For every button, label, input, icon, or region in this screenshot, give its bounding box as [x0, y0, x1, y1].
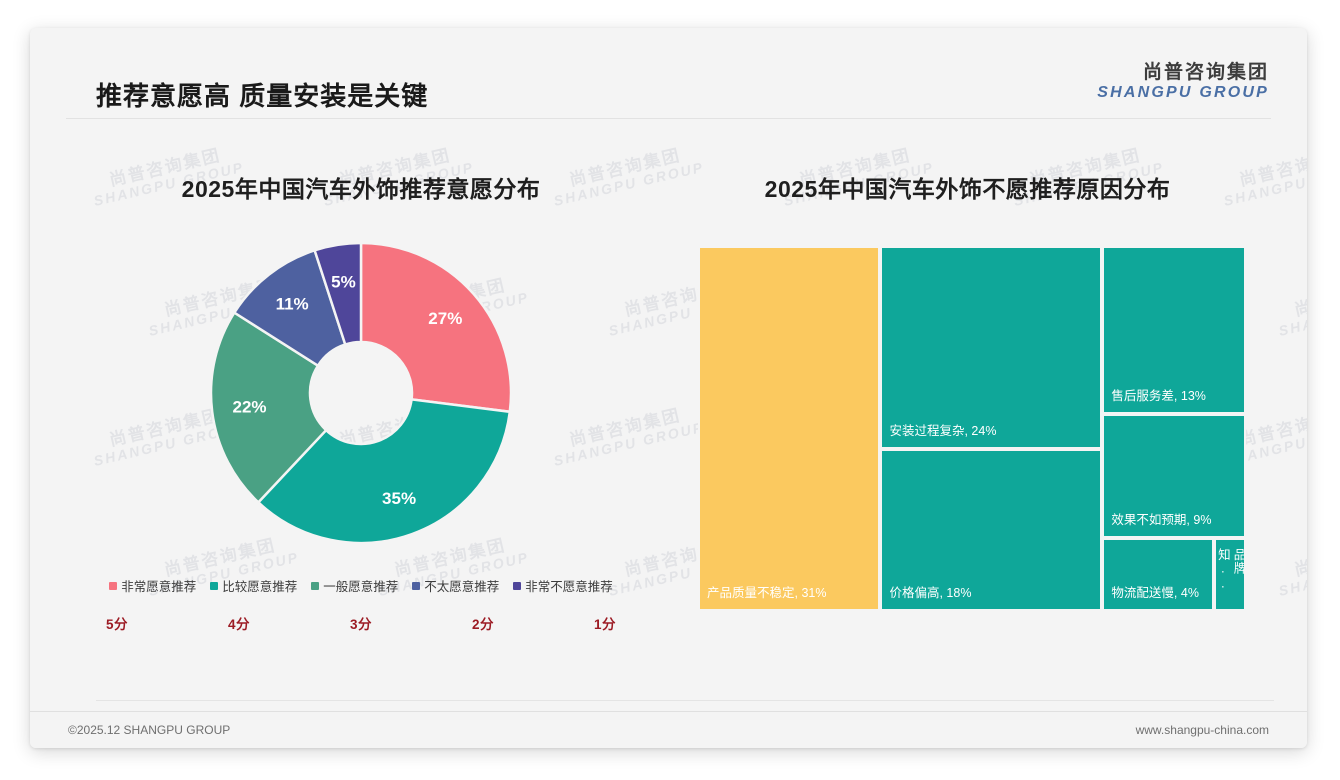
- legend-swatch-icon: [109, 582, 117, 590]
- slide-footer: ©2025.12 SHANGPU GROUP www.shangpu-china…: [30, 711, 1307, 748]
- legend-item[interactable]: 非常不愿意推荐: [513, 576, 613, 595]
- donut-slice-label: 22%: [232, 398, 266, 417]
- treemap-tile[interactable]: 品牌知..: [1214, 538, 1246, 611]
- donut-slice-label: 5%: [331, 273, 356, 292]
- treemap-tile[interactable]: 价格偏高, 18%: [880, 449, 1102, 611]
- brand-logo: 尚普咨询集团 SHANGPU GROUP: [1097, 62, 1269, 103]
- treemap-tile[interactable]: 效果不如预期, 9%: [1102, 414, 1246, 538]
- slide-card: 尚普咨询集团SHANGPU GROUP尚普咨询集团SHANGPU GROUP尚普…: [30, 28, 1307, 748]
- header-divider: [66, 118, 1271, 119]
- treemap-tile-label: 价格偏高, 18%: [882, 586, 978, 609]
- treemap-chart-title: 2025年中国汽车外饰不愿推荐原因分布: [660, 170, 1275, 204]
- treemap-tile[interactable]: 售后服务差, 13%: [1102, 246, 1246, 414]
- footer-website: www.shangpu-china.com: [1136, 723, 1269, 737]
- donut-slice-label: 27%: [428, 309, 462, 328]
- treemap-tile-label: 物流配送慢, 4%: [1104, 586, 1206, 609]
- legend-item[interactable]: 比较愿意推荐: [210, 576, 297, 595]
- treemap-tile-label: 安装过程复杂, 24%: [882, 424, 1003, 447]
- legend-swatch-icon: [311, 582, 319, 590]
- brand-logo-en: SHANGPU GROUP: [1097, 84, 1269, 103]
- treemap-tile-label: 品牌知..: [1214, 540, 1245, 609]
- legend-swatch-icon: [513, 582, 521, 590]
- treemap-tile[interactable]: 物流配送慢, 4%: [1102, 538, 1213, 611]
- treemap-tile-label: 效果不如预期, 9%: [1104, 513, 1218, 536]
- score-label: 4分: [228, 613, 250, 633]
- treemap-tile-label: 售后服务差, 13%: [1104, 389, 1212, 412]
- page-title: 推荐意愿高 质量安装是关键: [96, 76, 428, 113]
- footer-copyright: ©2025.12 SHANGPU GROUP: [68, 723, 230, 737]
- treemap-tile[interactable]: 产品质量不稳定, 31%: [698, 246, 880, 611]
- treemap-chart: 产品质量不稳定, 31%安装过程复杂, 24%价格偏高, 18%售后服务差, 1…: [698, 246, 1246, 611]
- donut-chart-title: 2025年中国汽车外饰推荐意愿分布: [66, 170, 656, 204]
- donut-slice-label: 35%: [382, 489, 416, 508]
- legend-item[interactable]: 不太愿意推荐: [412, 576, 499, 595]
- score-label: 1分: [594, 613, 616, 633]
- legend-label: 一般愿意推荐: [323, 576, 398, 595]
- panels-container: 2025年中国汽车外饰推荐意愿分布 27%35%22%11%5% 非常愿意推荐比…: [30, 118, 1307, 678]
- legend-label: 非常不愿意推荐: [525, 576, 613, 595]
- score-scale-row: 5分4分3分2分1分: [88, 613, 634, 633]
- donut-slice-label: 11%: [276, 295, 309, 314]
- legend-swatch-icon: [412, 582, 420, 590]
- legend-label: 非常愿意推荐: [121, 576, 196, 595]
- treemap-chart-panel: 2025年中国汽车外饰不愿推荐原因分布 产品质量不稳定, 31%安装过程复杂, …: [660, 118, 1275, 678]
- footnote-divider: [96, 700, 1274, 701]
- donut-legend: 非常愿意推荐比较愿意推荐一般愿意推荐不太愿意推荐非常不愿意推荐: [66, 576, 656, 595]
- slide-header: 推荐意愿高 质量安装是关键 尚普咨询集团 SHANGPU GROUP: [30, 28, 1307, 118]
- score-label: 3分: [350, 613, 372, 633]
- score-label: 5分: [106, 613, 128, 633]
- donut-chart-panel: 2025年中国汽车外饰推荐意愿分布 27%35%22%11%5% 非常愿意推荐比…: [66, 118, 656, 678]
- donut-chart-svg: 27%35%22%11%5%: [196, 228, 526, 558]
- score-label: 2分: [472, 613, 494, 633]
- legend-swatch-icon: [210, 582, 218, 590]
- legend-label: 比较愿意推荐: [222, 576, 297, 595]
- legend-item[interactable]: 非常愿意推荐: [109, 576, 196, 595]
- legend-label: 不太愿意推荐: [424, 576, 499, 595]
- brand-logo-cn: 尚普咨询集团: [1097, 62, 1269, 84]
- legend-item[interactable]: 一般愿意推荐: [311, 576, 398, 595]
- treemap-tile-label: 产品质量不稳定, 31%: [700, 586, 833, 609]
- donut-chart: 27%35%22%11%5%: [196, 228, 526, 558]
- treemap-tile[interactable]: 安装过程复杂, 24%: [880, 246, 1102, 449]
